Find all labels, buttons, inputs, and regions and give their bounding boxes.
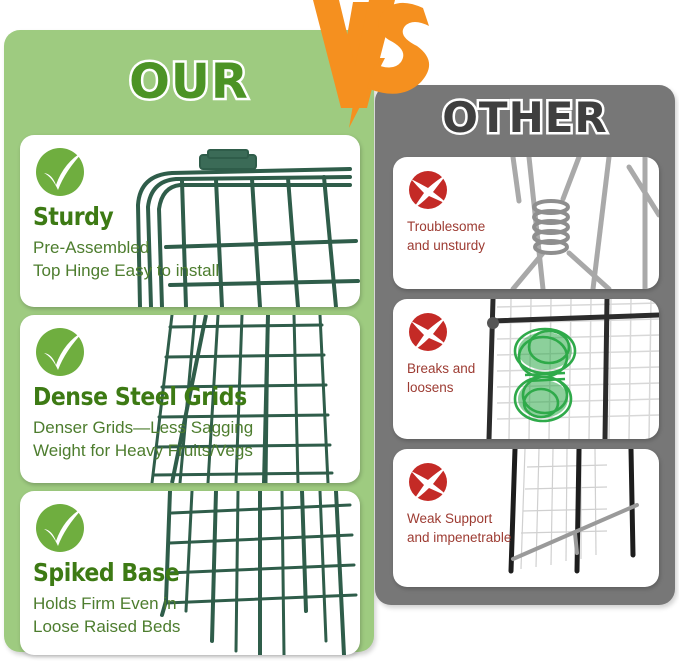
card-text-block: Weak Support and impenetrable xyxy=(393,449,659,547)
check-circle-icon xyxy=(32,325,90,381)
our-panel: OUR xyxy=(4,30,374,652)
card-body: Denser Grids—Less Sagging Weight for Hea… xyxy=(33,416,360,462)
card-heading: Dense Steel Grids xyxy=(33,383,321,411)
other-panel: OTHER xyxy=(375,85,675,605)
x-circle-icon xyxy=(405,309,453,355)
card-body: Holds Firm Even in Loose Raised Beds xyxy=(33,592,360,638)
card-text-block: Dense Steel Grids Denser Grids—Less Sagg… xyxy=(20,315,360,462)
card-text-block: Spiked Base Holds Firm Even in Loose Rai… xyxy=(20,491,360,638)
card-text-block: Sturdy Pre-Assembled Top Hinge Easy to i… xyxy=(20,135,360,282)
other-drawback-card-breaks-loosens[interactable]: Breaks and loosens xyxy=(393,299,659,439)
check-circle-icon xyxy=(32,501,90,557)
x-circle-icon xyxy=(405,167,453,213)
card-heading: Spiked Base xyxy=(33,559,321,587)
x-circle-icon xyxy=(405,459,453,505)
card-text-block: Troublesome and unsturdy xyxy=(393,157,659,255)
our-feature-card-spiked-base[interactable]: Spiked Base Holds Firm Even in Loose Rai… xyxy=(20,491,360,655)
card-body: Troublesome and unsturdy xyxy=(407,217,659,255)
other-drawback-card-troublesome[interactable]: Troublesome and unsturdy xyxy=(393,157,659,289)
our-feature-card-dense-steel-grids[interactable]: Dense Steel Grids Denser Grids—Less Sagg… xyxy=(20,315,360,483)
check-circle-icon xyxy=(32,145,90,201)
our-feature-card-sturdy[interactable]: Sturdy Pre-Assembled Top Hinge Easy to i… xyxy=(20,135,360,307)
card-heading: Sturdy xyxy=(33,203,321,231)
card-body: Breaks and loosens xyxy=(407,359,659,397)
card-body: Pre-Assembled Top Hinge Easy to install xyxy=(33,236,360,282)
our-panel-title: OUR xyxy=(4,58,374,106)
card-body: Weak Support and impenetrable xyxy=(407,509,659,547)
other-drawback-card-weak-support[interactable]: Weak Support and impenetrable xyxy=(393,449,659,587)
card-text-block: Breaks and loosens xyxy=(393,299,659,397)
other-panel-title: OTHER xyxy=(375,97,675,139)
